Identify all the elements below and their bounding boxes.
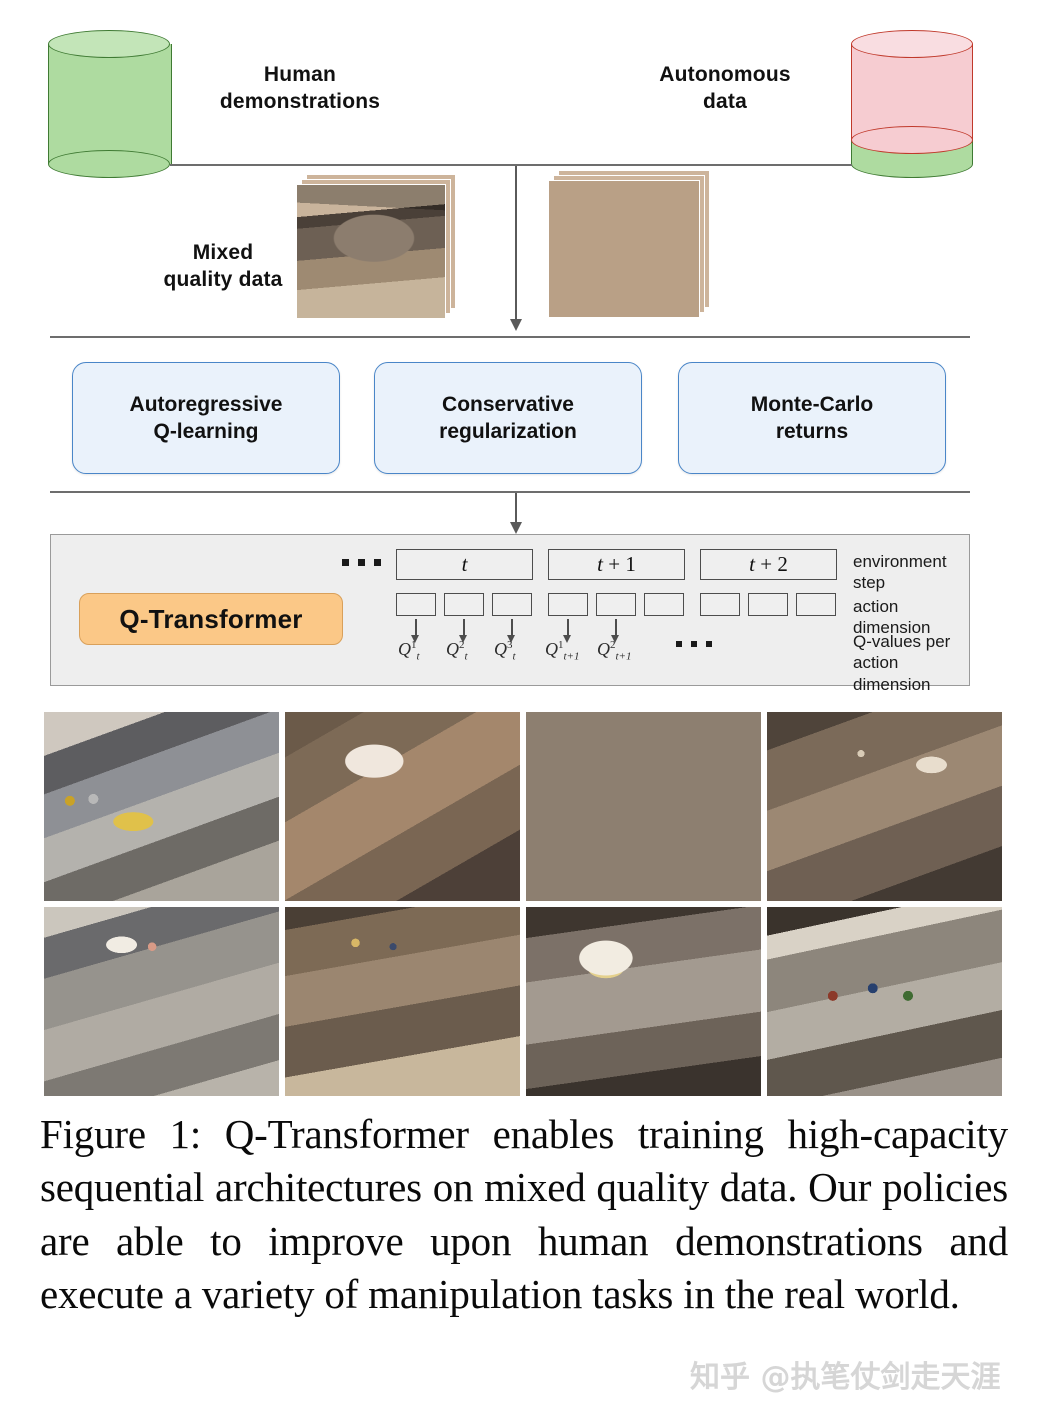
q-value-label: Q1t [398,639,420,663]
action-dim-box [796,593,836,616]
cylinder-bottom [48,150,170,178]
cylinder-top [48,30,170,58]
q-arrow-icon [567,619,569,636]
env-step-box-t-plus-2: t + 2 [700,549,837,580]
action-dim-box [548,593,588,616]
gallery-photo [44,712,279,901]
q-value-label: Q3t [494,639,516,663]
divider-line-sources [170,164,852,166]
thumbnail-image [549,181,699,317]
leading-ellipsis-icon [342,559,381,566]
human-demonstrations-database-cylinder-icon [48,30,170,178]
autonomous-data-database-cylinder-icon [851,30,973,178]
action-dim-box [644,593,684,616]
method-box-conservative-regularization[interactable]: Conservativeregularization [374,362,642,474]
q-transformer-panel: Q-Transformer t t + 1 t + 2 Q1t Q2t Q3t … [50,534,970,686]
mixed-quality-data-label: Mixedquality data [128,240,318,294]
thumbnail-image [297,185,445,318]
method-box-autoregressive-q-learning[interactable]: AutoregressiveQ-learning [72,362,340,474]
legend-environment-step: environment step [853,551,969,594]
q-arrow-icon [615,619,617,636]
figure-caption: Figure 1: Q-Transformer enables training… [40,1108,1008,1321]
gallery-photo [285,907,520,1096]
q-value-label: Q1t+1 [545,639,579,663]
q-arrow-icon [511,619,513,636]
demo-thumbnail [296,184,446,319]
q-value-label: Q2t+1 [597,639,631,663]
trailing-ellipsis-icon [676,641,712,647]
gallery-photo [526,907,761,1096]
action-dim-box [700,593,740,616]
legend-q-values-per-action-dimension: Q-values peraction dimension [853,631,969,695]
gallery-photo [285,712,520,901]
cylinder-divider-pink [851,126,973,154]
divider-line-methods [50,491,970,493]
action-dim-box [396,593,436,616]
gallery-photo [767,712,1002,901]
action-dim-box [444,593,484,616]
action-dim-box [596,593,636,616]
human-demonstrations-label: Humandemonstrations [185,62,415,116]
q-arrow-icon [463,619,465,636]
figure-panel: Humandemonstrations Autonomousdata Mixed… [0,0,1046,1414]
cylinder-top-pink [851,30,973,58]
autonomous-data-label: Autonomousdata [620,62,830,116]
human-demo-photo-stack [296,184,446,319]
autonomous-thumbnail [548,180,700,318]
cylinder-body [48,44,172,164]
down-arrow-icon-to-model [515,493,517,523]
q-arrow-icon [415,619,417,636]
robot-photo-grid [44,712,1002,1096]
action-dim-box [492,593,532,616]
gallery-photo [44,907,279,1096]
divider-line-data [50,336,970,338]
method-box-monte-carlo-returns[interactable]: Monte-Carloreturns [678,362,946,474]
q-value-label: Q2t [446,639,468,663]
gallery-photo [767,907,1002,1096]
down-arrow-icon-to-methods [515,166,517,320]
env-step-box-t-plus-1: t + 1 [548,549,685,580]
gallery-photo [526,712,761,901]
action-dim-box [748,593,788,616]
env-step-box-t: t [396,549,533,580]
q-transformer-chip[interactable]: Q-Transformer [79,593,343,645]
zhihu-watermark: 知乎 @执笔仗剑走天涯 [690,1352,1000,1396]
autonomous-photo-stack [548,180,700,318]
